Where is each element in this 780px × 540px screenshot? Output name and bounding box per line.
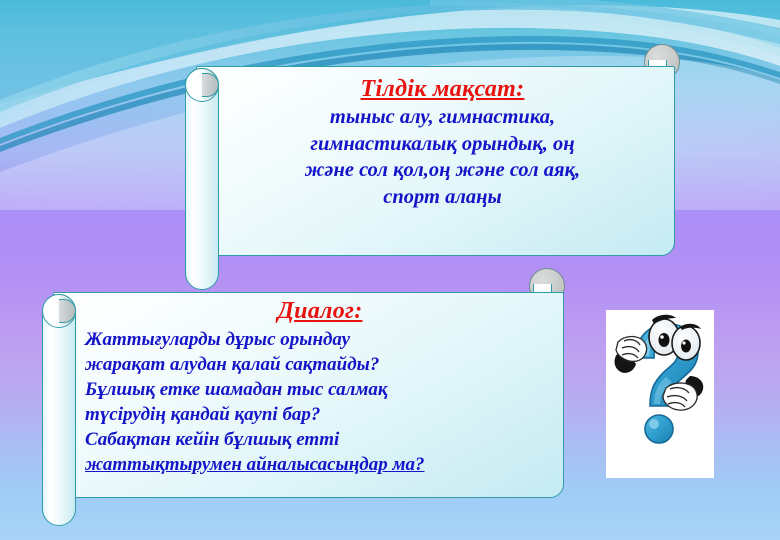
scroll-panel-dialog: Диалог: Жаттығуларды дұрыс орындау жарақ… xyxy=(53,292,564,498)
objective-line: спорт алаңы xyxy=(220,184,665,211)
dialog-line: түсірудің қандай қаупі бар? xyxy=(85,402,555,427)
dialog-title: Диалог: xyxy=(85,295,555,327)
dialog-line: Бұлшық етке шамадан тыс салмақ xyxy=(85,377,555,402)
scroll-left-roll-icon xyxy=(42,294,76,526)
dialog-line: жарақат алудан қалай сақтайды? xyxy=(85,352,555,377)
objective-line: гимнастикалық орындық, оң xyxy=(220,131,665,158)
cartoon-question-mark-icon xyxy=(606,310,714,478)
slide-canvas: Тілдік мақсат: тыныс алу, гимнастика, ги… xyxy=(0,0,780,540)
objective-body: тыныс алу, гимнастика, гимнастикалық оры… xyxy=(220,104,665,210)
dialog-body: Жаттығуларды дұрыс орындау жарақат алуда… xyxy=(85,327,555,477)
objective-line: және сол қол,оң және сол аяқ, xyxy=(220,157,665,184)
dialog-content: Диалог: Жаттығуларды дұрыс орындау жарақ… xyxy=(85,295,555,477)
objective-content: Тілдік мақсат: тыныс алу, гимнастика, ги… xyxy=(220,74,665,210)
dialog-line: Жаттығуларды дұрыс орындау xyxy=(85,327,555,352)
dialog-line: Сабақтан кейін бұлшық етті xyxy=(85,427,555,452)
objective-title: Тілдік мақсат: xyxy=(220,74,665,104)
scroll-panel-objective: Тілдік мақсат: тыныс алу, гимнастика, ги… xyxy=(196,66,675,256)
objective-line: тыныс алу, гимнастика, xyxy=(220,104,665,131)
dialog-line: жаттықтырумен айналысасыңдар ма? xyxy=(85,452,555,477)
